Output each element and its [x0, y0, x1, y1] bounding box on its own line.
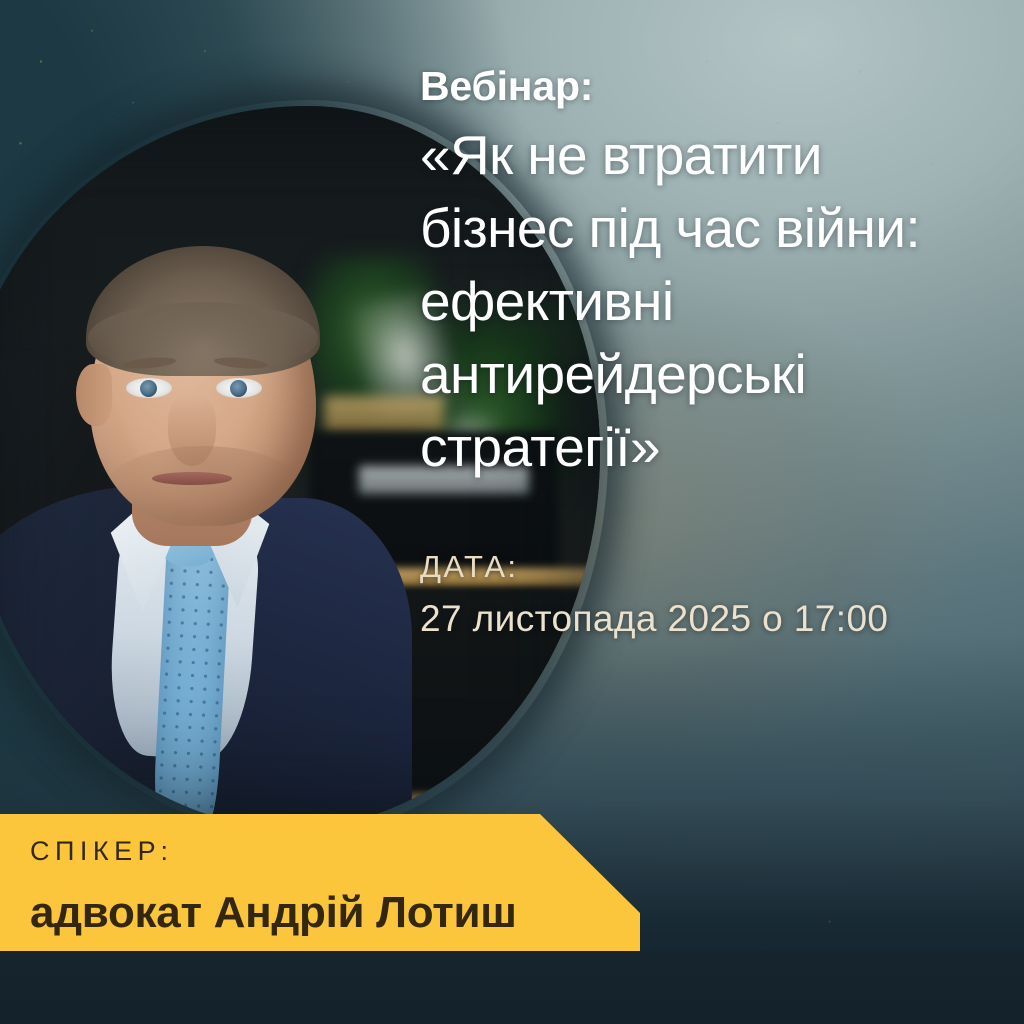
title-block: Вебінар: «Як не втратити бізнес під час …	[420, 66, 1010, 484]
date-label: ДАТА:	[420, 548, 980, 585]
headline-line-4: антирейдерські	[420, 338, 1010, 411]
headline-line-3: ефективні	[420, 265, 1010, 338]
speaker-name: адвокат Андрій Лотиш	[30, 888, 517, 938]
webinar-headline: «Як не втратити бізнес під час війни: еф…	[420, 119, 1010, 484]
speaker-banner: СПІКЕР: адвокат Андрій Лотиш	[0, 814, 640, 951]
date-value: 27 листопада 2025 о 17:00	[420, 597, 980, 641]
photo-ear	[76, 364, 112, 426]
headline-line-1: «Як не втратити	[420, 119, 1010, 192]
photo-iris-left	[140, 380, 157, 397]
speaker-label: СПІКЕР:	[30, 836, 174, 867]
webinar-poster: Вебінар: «Як не втратити бізнес під час …	[0, 0, 1024, 1024]
photo-mouth	[152, 472, 232, 485]
date-block: ДАТА: 27 листопада 2025 о 17:00	[420, 548, 980, 642]
photo-nose	[168, 394, 216, 466]
webinar-kicker: Вебінар:	[420, 66, 1010, 107]
headline-line-5: стратегії»	[420, 411, 1010, 484]
photo-iris-right	[230, 380, 247, 397]
headline-line-2: бізнес під час війни:	[420, 192, 1010, 265]
bottom-strip	[0, 951, 1024, 1024]
